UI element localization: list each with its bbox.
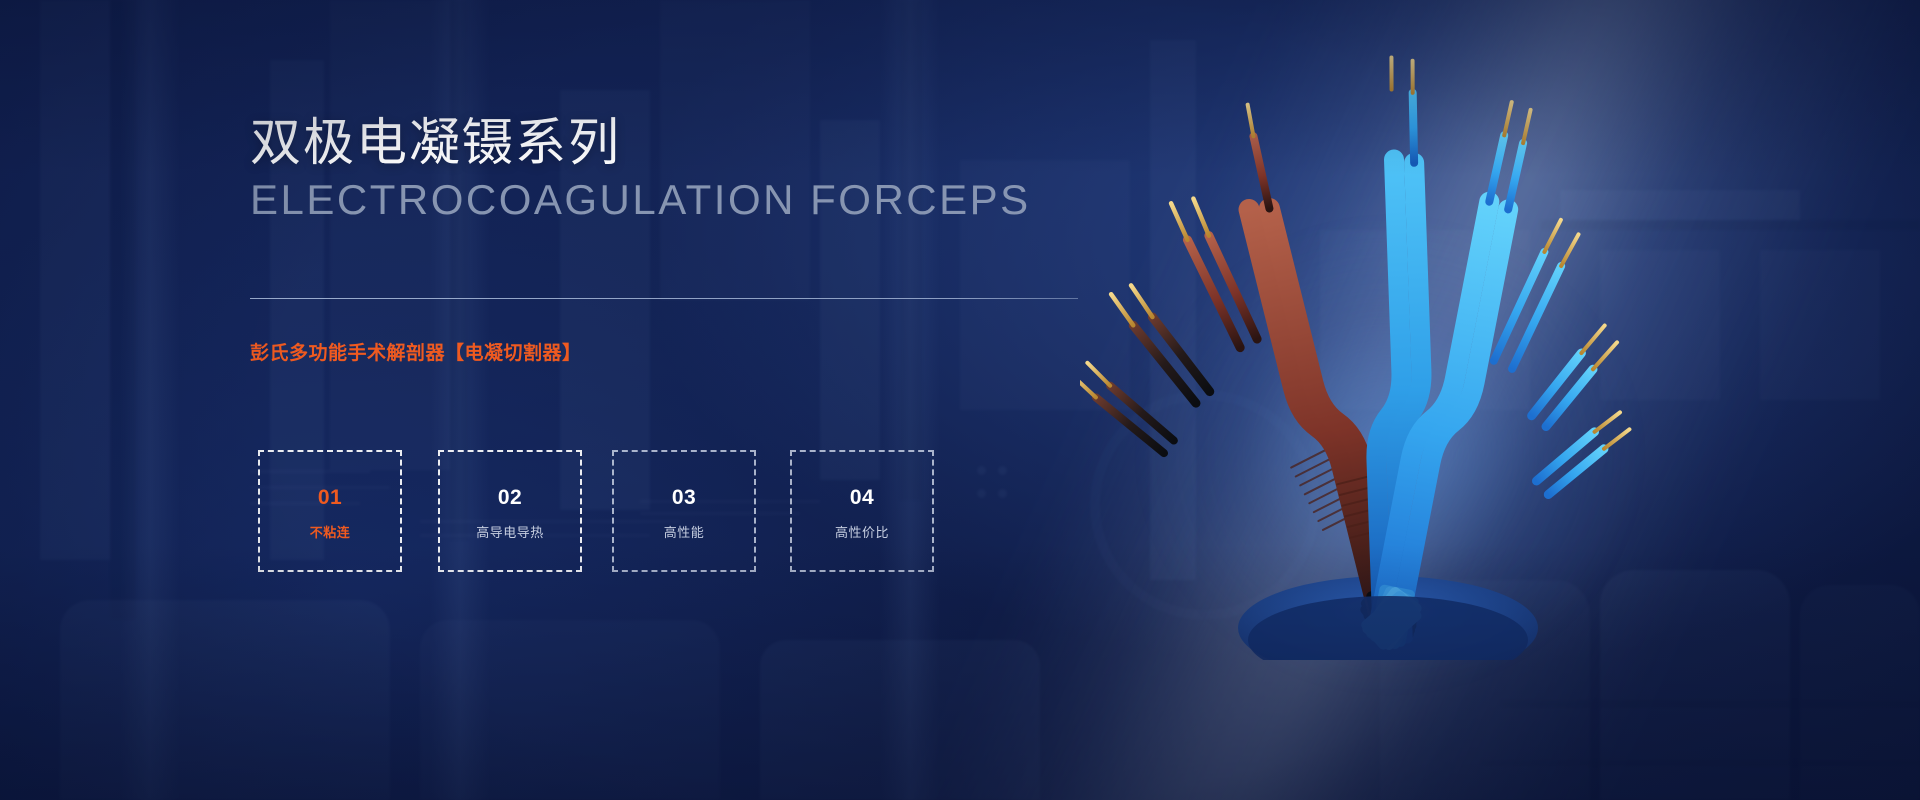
feature-label: 高性价比 bbox=[792, 522, 932, 541]
hero-text-block: 双极电凝镊系列 ELECTROCOAGULATION FORCEPS 彭氏多功能… bbox=[250, 0, 1150, 800]
product-image bbox=[1080, 40, 1700, 660]
feature-number: 02 bbox=[440, 486, 580, 510]
feature-item-02[interactable]: 02 高导电导热 bbox=[438, 450, 582, 572]
forceps-fan-illustration bbox=[1080, 40, 1700, 660]
feature-number: 01 bbox=[260, 486, 400, 510]
page-subtitle: 彭氏多功能手术解剖器【电凝切割器】 bbox=[250, 338, 582, 365]
title-divider bbox=[250, 298, 1078, 299]
feature-item-04[interactable]: 04 高性价比 bbox=[790, 450, 934, 572]
page-title-cn: 双极电凝镊系列 bbox=[250, 115, 621, 171]
feature-label: 不粘连 bbox=[260, 522, 400, 541]
feature-item-03[interactable]: 03 高性能 bbox=[612, 450, 756, 572]
feature-number: 03 bbox=[614, 486, 754, 510]
feature-item-01[interactable]: 01 不粘连 bbox=[258, 450, 402, 572]
page-title-en: ELECTROCOAGULATION FORCEPS bbox=[250, 176, 1031, 224]
feature-number: 04 bbox=[792, 486, 932, 510]
feature-label: 高性能 bbox=[614, 522, 754, 541]
feature-label: 高导电导热 bbox=[440, 522, 580, 541]
product-hero-banner: 双极电凝镊系列 ELECTROCOAGULATION FORCEPS 彭氏多功能… bbox=[0, 0, 1920, 800]
